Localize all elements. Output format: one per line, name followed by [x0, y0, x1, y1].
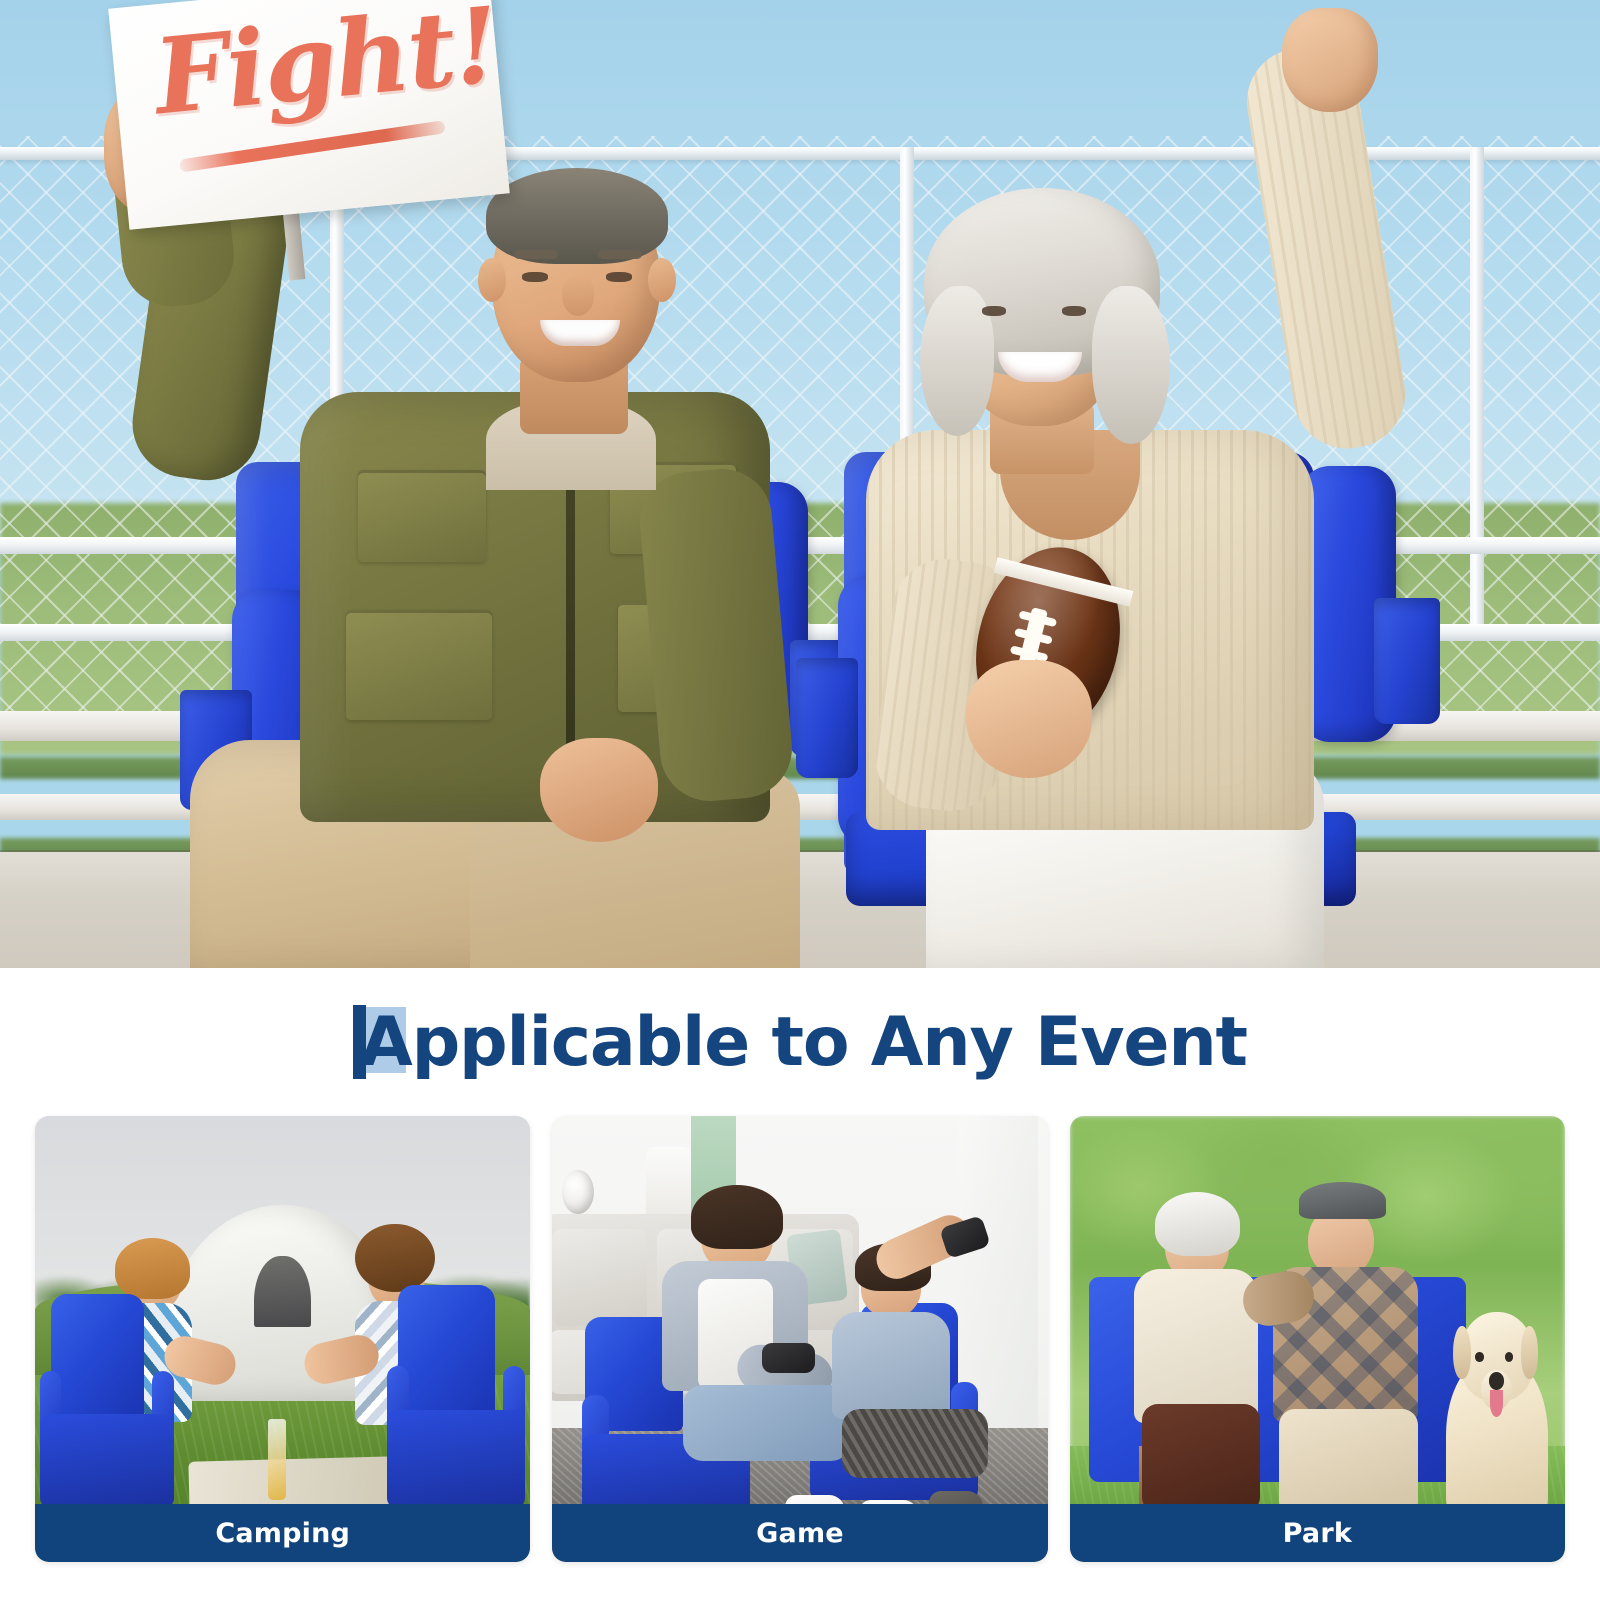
seat-cushion: [40, 1414, 174, 1508]
dog-nose: [1489, 1372, 1504, 1390]
use-case-card-game[interactable]: Game: [552, 1116, 1047, 1562]
jacket-lower-pocket: [346, 610, 492, 720]
card-caption-park: Park: [1070, 1504, 1565, 1562]
card-caption-camping: Camping: [35, 1504, 530, 1562]
man-eye: [522, 272, 548, 282]
senior-man-figure: [1273, 1178, 1422, 1517]
dog-ear: [1521, 1326, 1539, 1380]
jacket-chest-pocket: [358, 470, 486, 562]
sign-text: Fight!: [150, 0, 479, 132]
camping-photo: [35, 1116, 530, 1562]
seat-back: [51, 1294, 145, 1427]
card-caption-label: Park: [1283, 1518, 1352, 1549]
seat-back: [398, 1285, 495, 1423]
fight-sign: Fight!: [108, 0, 510, 230]
seat-side-pocket: [1374, 598, 1440, 724]
senior-woman-figure: [1134, 1192, 1263, 1513]
camping-seat-left: [40, 1294, 174, 1508]
football-lace: [1014, 628, 1053, 645]
tent-doorway: [254, 1256, 311, 1327]
woman-raised-fist: [1282, 8, 1378, 112]
senior-woman-white-hair: [1155, 1192, 1240, 1256]
camper-woman-hair: [115, 1238, 190, 1300]
boy-shirt: [832, 1312, 949, 1419]
woman-eye: [982, 306, 1006, 316]
football-lace: [1018, 610, 1057, 627]
man-ear: [478, 258, 506, 302]
boy-figure: [820, 1232, 979, 1500]
use-case-card-row: Camping: [35, 1116, 1565, 1562]
camping-seat-right: [387, 1285, 526, 1508]
flat-cap: [1299, 1182, 1385, 1219]
man-eyebrow: [598, 250, 642, 259]
hero-photo: Fight!: [0, 0, 1600, 968]
park-photo: [1070, 1116, 1565, 1562]
woman-eye: [1062, 306, 1086, 316]
senior-woman-cardigan: [1134, 1269, 1258, 1423]
dog-ear: [1453, 1326, 1471, 1380]
man-eye: [606, 272, 632, 282]
boy-jeans: [842, 1409, 988, 1479]
card-caption-label: Game: [756, 1518, 844, 1549]
use-case-card-camping[interactable]: Camping: [35, 1116, 530, 1562]
soccer-ball: [562, 1170, 594, 1215]
father-hair: [691, 1185, 784, 1250]
man-nose: [562, 276, 594, 316]
game-controller: [762, 1343, 815, 1372]
man-ear: [648, 258, 676, 302]
card-caption-game: Game: [552, 1504, 1047, 1562]
game-photo: [552, 1116, 1047, 1562]
section-heading: Applicable to Any Event: [360, 1003, 1247, 1082]
senior-man-khakis: [1279, 1409, 1419, 1517]
drink-bottle: [268, 1419, 286, 1499]
man-eyebrow: [514, 250, 558, 259]
use-case-card-park[interactable]: Park: [1070, 1116, 1565, 1562]
senior-woman-trousers: [1142, 1404, 1260, 1513]
fence-post: [1470, 147, 1484, 631]
woman-hand-holding-football: [966, 660, 1092, 778]
heading-band: Applicable to Any Event: [0, 968, 1600, 1116]
father-figure: [651, 1196, 829, 1490]
seat-cushion: [387, 1410, 526, 1508]
seat-side-pocket: [796, 658, 858, 778]
card-caption-label: Camping: [215, 1518, 350, 1549]
dog-eye: [1475, 1352, 1483, 1361]
woman-hair-side: [1092, 286, 1170, 444]
product-lifestyle-infographic: Fight!: [0, 0, 1600, 1600]
camper-man-curly-hair: [355, 1224, 435, 1293]
man-right-hand: [540, 738, 658, 842]
sofa-cushion: [552, 1229, 647, 1326]
dog-tongue: [1490, 1390, 1503, 1417]
man-hair: [486, 168, 668, 264]
golden-retriever-dog: [1436, 1312, 1555, 1535]
